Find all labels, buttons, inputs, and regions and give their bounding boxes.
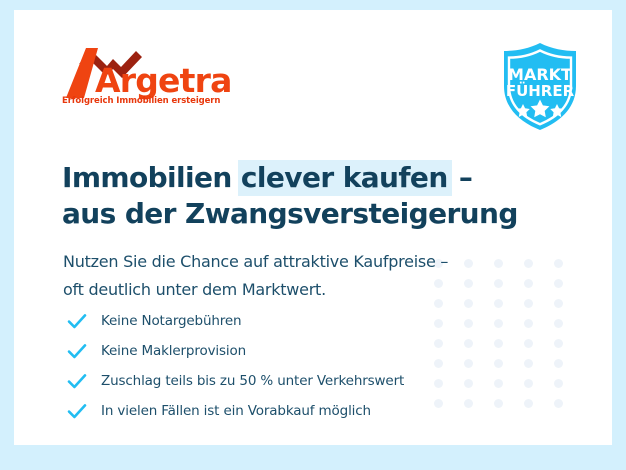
decoration-dot xyxy=(494,359,503,368)
headline-line-1: Immobilien clever kaufen – xyxy=(62,160,518,196)
decoration-dot xyxy=(494,399,503,408)
checklist-item-label: In vielen Fällen ist ein Vorabkauf mögli… xyxy=(101,403,371,419)
decoration-dot xyxy=(494,299,503,308)
argetra-logo[interactable]: Argetra Erfolgreich Immobilien ersteiger… xyxy=(60,42,250,122)
decoration-dot xyxy=(464,319,473,328)
decoration-dot xyxy=(554,359,563,368)
decoration-dot xyxy=(494,319,503,328)
checkmark-icon xyxy=(66,370,88,392)
decoration-dot xyxy=(554,259,563,268)
decoration-dot xyxy=(524,299,533,308)
decoration-dot xyxy=(434,319,443,328)
headline-line-2: aus der Zwangsversteigerung xyxy=(62,196,518,232)
checkmark-icon xyxy=(66,310,88,332)
logo-tagline: Erfolgreich Immobilien ersteigern xyxy=(62,96,220,106)
decoration-dot xyxy=(554,339,563,348)
argetra-logo-icon: Argetra xyxy=(60,42,250,100)
checklist-item-label: Keine Notargebühren xyxy=(101,313,241,329)
subheading: Nutzen Sie die Chance auf attraktive Kau… xyxy=(63,248,448,304)
headline: Immobilien clever kaufen – aus der Zwang… xyxy=(62,160,518,232)
headline-suffix: – xyxy=(450,161,473,194)
decoration-dot xyxy=(464,399,473,408)
market-leader-badge: MARKT FÜHRER xyxy=(492,38,588,134)
checklist-item-label: Keine Maklerprovision xyxy=(101,343,246,359)
dot-pattern-decoration xyxy=(434,259,584,419)
decoration-dot xyxy=(554,319,563,328)
decoration-dot xyxy=(554,299,563,308)
decoration-dot xyxy=(464,339,473,348)
decoration-dot xyxy=(524,379,533,388)
benefits-checklist: Keine NotargebührenKeine Maklerprovision… xyxy=(66,306,404,426)
subheading-line-1: Nutzen Sie die Chance auf attraktive Kau… xyxy=(63,248,448,276)
badge-line2-text: FÜHRER xyxy=(506,81,575,100)
decoration-dot xyxy=(464,259,473,268)
headline-highlight: clever kaufen xyxy=(238,160,452,196)
decoration-dot xyxy=(554,379,563,388)
decoration-dot xyxy=(434,339,443,348)
checklist-item: Keine Maklerprovision xyxy=(66,336,404,366)
checklist-item-label: Zuschlag teils bis zu 50 % unter Verkehr… xyxy=(101,373,404,389)
decoration-dot xyxy=(524,339,533,348)
decoration-dot xyxy=(524,279,533,288)
decoration-dot xyxy=(464,299,473,308)
decoration-dot xyxy=(554,279,563,288)
decoration-dot xyxy=(464,359,473,368)
decoration-dot xyxy=(434,379,443,388)
decoration-dot xyxy=(464,379,473,388)
checklist-item: Zuschlag teils bis zu 50 % unter Verkehr… xyxy=(66,366,404,396)
decoration-dot xyxy=(434,359,443,368)
decoration-dot xyxy=(524,359,533,368)
decoration-dot xyxy=(524,319,533,328)
headline-prefix: Immobilien xyxy=(62,161,241,194)
decoration-dot xyxy=(464,279,473,288)
checklist-item: In vielen Fällen ist ein Vorabkauf mögli… xyxy=(66,396,404,426)
shield-badge-icon: MARKT FÜHRER xyxy=(492,38,588,134)
decoration-dot xyxy=(494,339,503,348)
promo-banner: Argetra Erfolgreich Immobilien ersteiger… xyxy=(0,0,626,470)
checklist-item: Keine Notargebühren xyxy=(66,306,404,336)
decoration-dot xyxy=(434,399,443,408)
svg-text:Argetra: Argetra xyxy=(95,61,232,100)
decoration-dot xyxy=(494,379,503,388)
banner-card: Argetra Erfolgreich Immobilien ersteiger… xyxy=(14,10,612,445)
checkmark-icon xyxy=(66,340,88,362)
decoration-dot xyxy=(494,259,503,268)
decoration-dot xyxy=(524,259,533,268)
subheading-line-2: oft deutlich unter dem Marktwert. xyxy=(63,276,448,304)
checkmark-icon xyxy=(66,400,88,422)
decoration-dot xyxy=(494,279,503,288)
decoration-dot xyxy=(524,399,533,408)
decoration-dot xyxy=(554,399,563,408)
